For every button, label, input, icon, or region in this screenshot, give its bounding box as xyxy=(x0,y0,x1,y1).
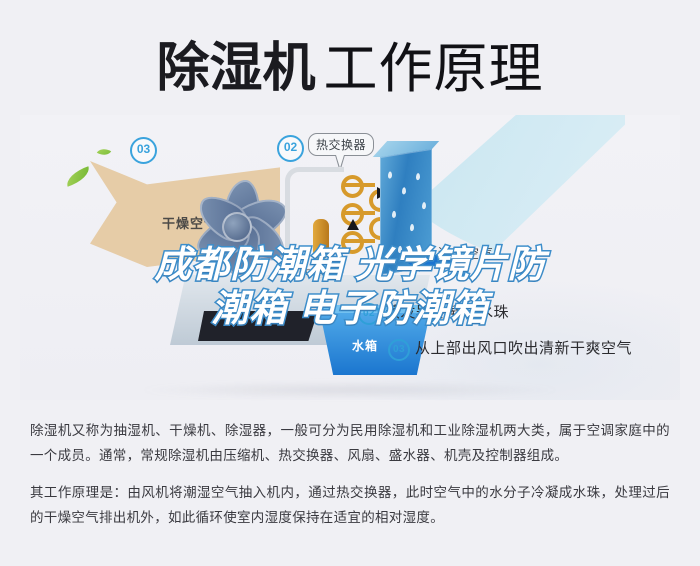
copper-tube xyxy=(345,239,375,243)
leaf-icon xyxy=(64,166,93,186)
fan-illustration xyxy=(180,170,288,274)
copper-tube xyxy=(345,211,375,215)
diagram-drop-shadow xyxy=(140,382,560,398)
water-droplet-icon xyxy=(388,171,392,179)
water-droplet-icon xyxy=(392,211,396,219)
page-root: 除湿机工作原理 干燥空气 03 潮湿空气 01 02 热交换器 xyxy=(0,0,700,566)
step-sentence-02: 02蒸发器冷凝成水珠 xyxy=(358,301,509,325)
flow-arrow-up-icon xyxy=(347,219,359,230)
step-badge-02-heat-exchanger: 02 xyxy=(277,135,304,162)
water-tank-label: 水箱 xyxy=(352,337,378,354)
unit-housing-shadow xyxy=(198,311,318,341)
title-bold-part: 除湿机 xyxy=(157,39,316,98)
intake-airflow-arrow-head-icon xyxy=(404,248,420,272)
leaf-icon xyxy=(97,146,111,159)
body-paragraph-1: 除湿机又称为抽湿机、干燥机、除湿器，一般可分为民用除湿机和工业除湿机两大类，属于… xyxy=(30,418,670,468)
water-droplet-icon xyxy=(398,246,402,254)
copper-tube xyxy=(345,183,375,187)
fan-hub xyxy=(222,212,252,242)
dehumidifier-principle-diagram: 干燥空气 03 潮湿空气 01 02 热交换器 压缩机 xyxy=(20,115,680,400)
intake-airflow-arrow xyxy=(418,255,464,266)
page-title: 除湿机工作原理 xyxy=(0,24,700,103)
water-droplet-icon xyxy=(416,173,420,181)
step-sentence-03-text: 从上部出风口吹出清新干爽空气 xyxy=(415,340,632,357)
water-droplet-icon xyxy=(402,187,406,195)
water-droplet-icon xyxy=(422,202,426,210)
heat-exchanger-callout: 热交换器 xyxy=(308,133,374,156)
title-light-part: 工作原理 xyxy=(324,39,544,99)
step-sentence-02-text: 蒸发器冷凝成水珠 xyxy=(385,304,509,321)
step-sentence-03: 03从上部出风口吹出清新干爽空气 xyxy=(388,337,632,361)
water-droplet-icon xyxy=(410,224,414,232)
compressor-cylinder xyxy=(313,219,329,259)
step-badge-03-dry-air: 03 xyxy=(130,137,157,164)
step-sentence-02-badge: 02 xyxy=(358,303,380,325)
step-sentence-03-badge: 03 xyxy=(388,339,410,361)
body-paragraph-2: 其工作原理是：由风机将潮湿空气抽入机内，通过热交换器，此时空气中的水分子冷凝成水… xyxy=(30,480,670,530)
